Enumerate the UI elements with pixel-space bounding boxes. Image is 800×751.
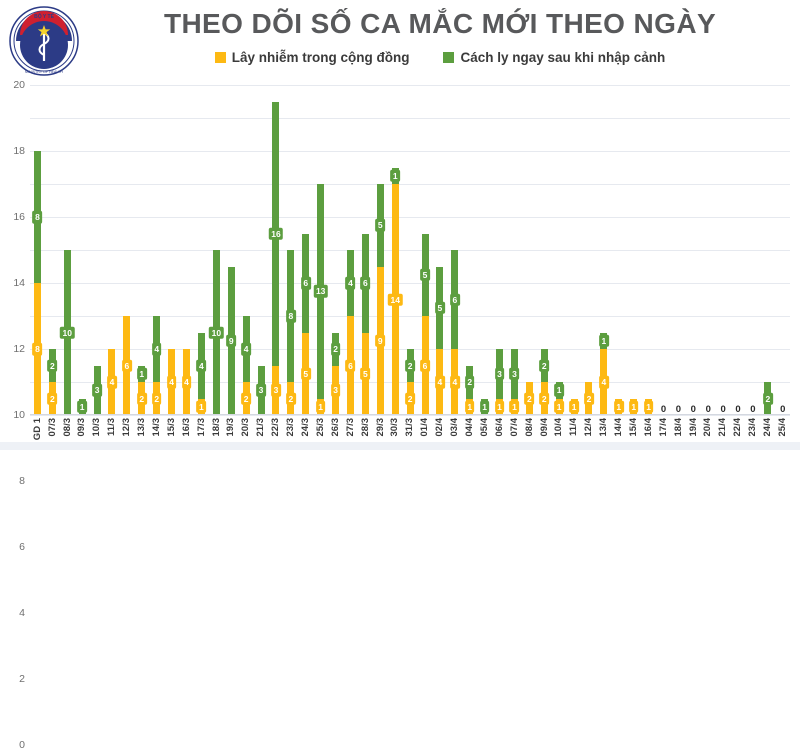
plot-area: 02468101214161820 8822101346124244411094… <box>30 85 790 415</box>
bar-column: 9 <box>224 85 239 415</box>
bar-column: 14 <box>596 85 611 415</box>
bar-column: 12 <box>134 85 149 415</box>
y-axis-tick-label: 2 <box>19 673 25 685</box>
bar-value-label-community: 2 <box>584 392 594 405</box>
bar-stack: 64 <box>451 85 458 415</box>
x-axis-tick-label: 25/4 <box>778 418 788 437</box>
bar-stack: 4 <box>183 85 190 415</box>
bar-value-label-community: 2 <box>152 392 162 405</box>
bar-column: 114 <box>388 85 403 415</box>
bar-segment-quarantined: 5 <box>422 234 429 317</box>
bar-stack: 82 <box>287 85 294 415</box>
bar-segment-community: 1 <box>511 399 518 416</box>
bar-stack: 42 <box>153 85 160 415</box>
bar-column: 31 <box>507 85 522 415</box>
bar-value-label-community: 4 <box>435 376 445 389</box>
bar-segment-community: 1 <box>556 399 563 416</box>
bar-segment-quarantined: 1 <box>600 333 607 350</box>
bar-value-label-quarantined: 3 <box>256 384 266 397</box>
bar-column: 23 <box>328 85 343 415</box>
bar-value-label-quarantined: 1 <box>599 335 609 348</box>
bar-stack: 22 <box>407 85 414 415</box>
bar-series-layer: 8822101346124244411094231638265131234665… <box>30 85 790 415</box>
svg-text:MINISTRY OF HEALTH: MINISTRY OF HEALTH <box>25 70 63 74</box>
bar-value-label-quarantined: 2 <box>465 376 475 389</box>
bar-value-label-quarantined: 1 <box>554 384 564 397</box>
bar-column: 0 <box>775 85 790 415</box>
bar-stack: 1 <box>571 85 578 415</box>
bar-segment-quarantined: 6 <box>451 250 458 349</box>
bar-segment-community: 4 <box>451 349 458 415</box>
x-axis-tick-label: 09/3 <box>77 418 87 437</box>
bar-column: 6 <box>119 85 134 415</box>
bar-segment-quarantined: 2 <box>541 349 548 382</box>
bar-stack: 23 <box>332 85 339 415</box>
bar-value-label-community: 4 <box>167 376 177 389</box>
bar-value-label-quarantined: 2 <box>763 392 773 405</box>
bar-column: 1 <box>611 85 626 415</box>
bar-segment-community: 4 <box>600 349 607 415</box>
legend-swatch-community <box>215 52 226 63</box>
bar-segment-community: 1 <box>198 399 205 416</box>
chart-page: BỘ Y TẾ MINISTRY OF HEALTH THEO DÕI SỐ C… <box>0 0 800 450</box>
bar-segment-quarantined: 5 <box>436 267 443 350</box>
x-axis-tick-label: 02/4 <box>435 418 445 437</box>
x-axis-tick-label: 24/3 <box>301 418 311 437</box>
x-axis-tick-label: 21/3 <box>256 418 266 437</box>
bar-column: 31 <box>492 85 507 415</box>
bar-stack <box>720 85 727 415</box>
bar-column: 59 <box>373 85 388 415</box>
bar-stack: 12 <box>138 85 145 415</box>
bar-value-label-quarantined: 3 <box>510 368 520 381</box>
bar-segment-quarantined: 16 <box>272 102 279 366</box>
x-axis-tick-label: 08/4 <box>525 418 535 437</box>
grid-line: 0 <box>30 415 790 416</box>
bar-value-label-quarantined: 10 <box>209 326 223 339</box>
bar-column: 1 <box>626 85 641 415</box>
bar-stack: 56 <box>422 85 429 415</box>
bar-value-label-quarantined: 4 <box>197 359 207 372</box>
bar-segment-quarantined: 2 <box>764 382 771 415</box>
bar-column: 65 <box>298 85 313 415</box>
bar-stack <box>749 85 756 415</box>
x-axis-tick-label: 14/3 <box>152 418 162 437</box>
bar-column: 4 <box>105 85 120 415</box>
bar-column: 54 <box>432 85 447 415</box>
x-axis-tick-label: 21/4 <box>718 418 728 437</box>
bar-value-label-community: 3 <box>331 384 341 397</box>
bar-stack: 46 <box>347 85 354 415</box>
bar-stack: 1 <box>481 85 488 415</box>
bar-value-label-quarantined: 9 <box>226 335 236 348</box>
bar-stack: 163 <box>272 85 279 415</box>
x-axis-tick-label: GD 1 <box>33 418 43 440</box>
bar-segment-community: 1 <box>496 399 503 416</box>
bar-segment-community: 1 <box>571 399 578 416</box>
bar-segment-community: 2 <box>541 382 548 415</box>
bar-column: 3 <box>254 85 269 415</box>
bar-segment-community: 2 <box>243 382 250 415</box>
bar-value-label-quarantined: 13 <box>313 285 327 298</box>
bar-segment-community: 1 <box>630 399 637 416</box>
bar-column: 0 <box>656 85 671 415</box>
bar-column: 42 <box>239 85 254 415</box>
x-axis-tick-label: 20/4 <box>703 418 713 437</box>
x-axis-tick-label: 10/3 <box>92 418 102 437</box>
bar-segment-quarantined: 1 <box>481 399 488 416</box>
bar-column: 82 <box>283 85 298 415</box>
bar-stack: 2 <box>764 85 771 415</box>
bar-column: 2 <box>522 85 537 415</box>
x-axis-tick-label: 13/3 <box>137 418 147 437</box>
bar-stack: 22 <box>541 85 548 415</box>
bar-column: 42 <box>149 85 164 415</box>
bar-stack: 14 <box>600 85 607 415</box>
x-axis-tick-label: 18/3 <box>212 418 222 437</box>
x-axis-tick-label: 23/3 <box>286 418 296 437</box>
bar-segment-community: 8 <box>34 283 41 415</box>
bar-segment-quarantined: 2 <box>407 349 414 382</box>
bar-value-label-quarantined: 2 <box>331 343 341 356</box>
bar-column: 163 <box>269 85 284 415</box>
y-axis-tick-label: 16 <box>13 211 25 223</box>
bar-column: 1 <box>75 85 90 415</box>
bar-segment-quarantined: 10 <box>213 250 220 415</box>
bar-value-label-community: 1 <box>510 401 520 414</box>
bar-column: 21 <box>462 85 477 415</box>
legend-item-quarantined: Cách ly ngay sau khi nhập cảnh <box>443 50 665 65</box>
bar-value-label-quarantined: 6 <box>301 277 311 290</box>
chart-legend: Lây nhiễm trong cộng đồng Cách ly ngay s… <box>215 50 666 65</box>
bar-stack: 31 <box>496 85 503 415</box>
chart-header: THEO DÕI SỐ CA MẮC MỚI THEO NGÀY Lây nhi… <box>90 2 790 78</box>
x-axis-tick-label: 08/3 <box>63 418 73 437</box>
x-axis-tick-label: 11/3 <box>107 418 117 436</box>
y-axis-tick-label: 18 <box>13 145 25 157</box>
x-axis-tick-label: 26/3 <box>331 418 341 437</box>
y-axis-tick-label: 8 <box>19 475 25 487</box>
bar-value-label-community: 2 <box>539 392 549 405</box>
bar-value-label-quarantined: 16 <box>269 227 283 240</box>
bar-column: 0 <box>731 85 746 415</box>
x-axis-tick-label: 04/4 <box>465 418 475 437</box>
bar-stack: 11 <box>556 85 563 415</box>
bar-stack: 131 <box>317 85 324 415</box>
bar-segment-community: 3 <box>272 366 279 416</box>
bar-column: 0 <box>686 85 701 415</box>
y-axis-tick-label: 12 <box>13 343 25 355</box>
bar-stack: 6 <box>123 85 130 415</box>
bar-segment-quarantined: 1 <box>392 168 399 185</box>
bar-segment-community: 1 <box>645 399 652 416</box>
x-axis-tick-label: 17/4 <box>659 418 669 437</box>
bar-column: 10 <box>60 85 75 415</box>
bar-value-label-quarantined: 2 <box>47 359 57 372</box>
bar-value-label-quarantined: 2 <box>539 359 549 372</box>
bar-segment-quarantined: 1 <box>79 399 86 416</box>
bar-segment-community: 2 <box>138 382 145 415</box>
bar-segment-community: 14 <box>392 184 399 415</box>
x-axis-tick-label: 15/4 <box>629 418 639 437</box>
bar-segment-community: 5 <box>302 333 309 416</box>
bar-value-label-quarantined: 1 <box>77 401 87 414</box>
bar-segment-quarantined: 8 <box>287 250 294 382</box>
bar-value-label-community: 2 <box>286 392 296 405</box>
bar-value-label-community: 4 <box>450 376 460 389</box>
bar-stack: 42 <box>243 85 250 415</box>
bar-column: 64 <box>447 85 462 415</box>
bar-value-label-quarantined: 3 <box>495 368 505 381</box>
bar-column: 0 <box>716 85 731 415</box>
bar-segment-quarantined: 2 <box>332 333 339 366</box>
bar-value-label-community: 3 <box>271 384 281 397</box>
bar-column: 10 <box>209 85 224 415</box>
bar-value-label-quarantined: 4 <box>241 343 251 356</box>
x-axis-tick-label: 16/3 <box>182 418 192 437</box>
x-axis-tick-label: 07/3 <box>48 418 58 437</box>
bar-segment-quarantined: 2 <box>49 349 56 382</box>
bar-column: 4 <box>164 85 179 415</box>
bottom-strip <box>0 442 800 450</box>
bar-value-label-community: 4 <box>107 376 117 389</box>
bar-stack: 88 <box>34 85 41 415</box>
bar-value-label-quarantined: 10 <box>60 326 74 339</box>
bar-stack: 3 <box>258 85 265 415</box>
bar-stack: 65 <box>302 85 309 415</box>
bar-value-label-community: 5 <box>361 368 371 381</box>
bar-value-label-quarantined: 5 <box>420 269 430 282</box>
bar-stack: 41 <box>198 85 205 415</box>
bar-stack <box>660 85 667 415</box>
bar-segment-community: 2 <box>153 382 160 415</box>
bar-value-label-quarantined: 1 <box>137 368 147 381</box>
bar-column: 88 <box>30 85 45 415</box>
bar-stack <box>735 85 742 415</box>
bar-column: 22 <box>537 85 552 415</box>
bar-stack <box>705 85 712 415</box>
bar-value-label-quarantined: 5 <box>375 219 385 232</box>
bar-column: 1 <box>477 85 492 415</box>
x-axis-tick-label: 03/4 <box>450 418 460 437</box>
bar-value-label-quarantined: 8 <box>33 211 43 224</box>
bar-segment-quarantined: 10 <box>64 250 71 415</box>
x-axis-tick-label: 12/3 <box>122 418 132 437</box>
ministry-of-health-logo-icon: BỘ Y TẾ MINISTRY OF HEALTH <box>8 5 80 77</box>
x-axis-tick-label: 29/3 <box>376 418 386 437</box>
bar-column: 22 <box>403 85 418 415</box>
bar-stack <box>779 85 786 415</box>
bar-stack: 2 <box>526 85 533 415</box>
bar-segment-community: 4 <box>108 349 115 415</box>
bar-value-label-quarantined: 6 <box>450 293 460 306</box>
bar-value-label-community: 1 <box>644 401 654 414</box>
bar-segment-community: 1 <box>317 399 324 416</box>
bar-segment-community: 5 <box>362 333 369 416</box>
bar-value-label-community: 1 <box>614 401 624 414</box>
bar-value-label-quarantined: 4 <box>152 343 162 356</box>
bar-segment-quarantined: 6 <box>362 234 369 333</box>
x-axis-tick-label: 19/3 <box>226 418 236 437</box>
bar-value-label-community: 1 <box>465 401 475 414</box>
bar-stack: 1 <box>645 85 652 415</box>
x-axis-tick-label: 19/4 <box>689 418 699 437</box>
bar-stack: 65 <box>362 85 369 415</box>
bar-segment-community: 1 <box>466 399 473 416</box>
bar-column: 65 <box>358 85 373 415</box>
bar-segment-quarantined: 13 <box>317 184 324 399</box>
bar-value-label-community: 1 <box>554 401 564 414</box>
bar-value-label-community: 1 <box>197 401 207 414</box>
x-axis-tick-label: 22/4 <box>733 418 743 437</box>
x-axis-tick-label: 25/3 <box>316 418 326 437</box>
x-axis-tick-label: 06/4 <box>495 418 505 437</box>
bar-value-label-quarantined: 3 <box>92 384 102 397</box>
bar-value-label-quarantined: 5 <box>435 302 445 315</box>
bar-segment-quarantined: 5 <box>377 184 384 267</box>
bar-stack: 54 <box>436 85 443 415</box>
bar-segment-quarantined: 4 <box>243 316 250 382</box>
bar-stack: 4 <box>168 85 175 415</box>
x-axis-tick-label: 13/4 <box>599 418 609 437</box>
bar-value-label-community: 6 <box>346 359 356 372</box>
bar-column: 22 <box>45 85 60 415</box>
x-axis-tick-label: 31/3 <box>405 418 415 437</box>
bar-value-label-quarantined: 1 <box>480 401 490 414</box>
bar-segment-community: 4 <box>168 349 175 415</box>
bar-segment-quarantined: 4 <box>347 250 354 316</box>
bar-segment-community: 4 <box>183 349 190 415</box>
bar-stack: 1 <box>615 85 622 415</box>
bar-segment-quarantined: 3 <box>511 349 518 399</box>
y-axis-tick-label: 4 <box>19 607 25 619</box>
bar-column: 56 <box>418 85 433 415</box>
bar-stack <box>675 85 682 415</box>
bar-column: 2 <box>582 85 597 415</box>
bar-value-label-community: 1 <box>316 401 326 414</box>
bar-stack: 9 <box>228 85 235 415</box>
bar-value-label-community: 4 <box>599 376 609 389</box>
bar-segment-quarantined: 1 <box>138 366 145 383</box>
bar-segment-quarantined: 3 <box>94 366 101 416</box>
bar-column: 11 <box>552 85 567 415</box>
legend-item-community: Lây nhiễm trong cộng đồng <box>215 50 410 65</box>
bar-stack: 1 <box>630 85 637 415</box>
bar-stack: 22 <box>49 85 56 415</box>
bar-segment-quarantined: 3 <box>258 366 265 416</box>
bar-value-label-quarantined: 8 <box>286 310 296 323</box>
bar-segment-community: 6 <box>123 316 130 415</box>
x-axis-tick-label: 15/3 <box>167 418 177 437</box>
x-axis-tick-label: 20/3 <box>241 418 251 437</box>
bar-value-label-community: 6 <box>122 359 132 372</box>
x-axis-tick-label: 16/4 <box>644 418 654 437</box>
bar-segment-quarantined: 1 <box>556 382 563 399</box>
x-axis-tick-label: 01/4 <box>420 418 430 437</box>
page-title: THEO DÕI SỐ CA MẮC MỚI THEO NGÀY <box>164 8 716 40</box>
bar-value-label-community: 2 <box>47 392 57 405</box>
bar-stack: 1 <box>79 85 86 415</box>
x-axis-tick-label: 05/4 <box>480 418 490 437</box>
bar-segment-quarantined: 2 <box>466 366 473 399</box>
bar-value-label-community: 14 <box>388 293 402 306</box>
bar-segment-community: 2 <box>526 382 533 415</box>
y-axis-tick-label: 20 <box>13 79 25 91</box>
bar-value-label-community: 6 <box>420 359 430 372</box>
legend-label-community: Lây nhiễm trong cộng đồng <box>232 50 410 65</box>
bar-segment-community: 4 <box>436 349 443 415</box>
bar-value-label-community: 8 <box>33 343 43 356</box>
y-axis-tick-label: 0 <box>19 739 25 751</box>
bar-value-label-community: 2 <box>137 392 147 405</box>
bar-segment-quarantined: 4 <box>198 333 205 399</box>
bar-segment-community: 2 <box>49 382 56 415</box>
bar-segment-community: 6 <box>422 316 429 415</box>
bar-value-label-community: 2 <box>524 392 534 405</box>
bar-column: 4 <box>179 85 194 415</box>
x-axis-tick-label: 12/4 <box>584 418 594 437</box>
bar-stack: 4 <box>108 85 115 415</box>
bar-stack: 59 <box>377 85 384 415</box>
bar-value-label-quarantined: 6 <box>361 277 371 290</box>
x-axis-tick-label: 10/4 <box>554 418 564 437</box>
bar-value-label-community: 9 <box>375 335 385 348</box>
x-axis-tick-label: 09/4 <box>540 418 550 437</box>
bar-stack: 21 <box>466 85 473 415</box>
x-axis-tick-label: 11/4 <box>569 418 579 436</box>
bar-stack: 3 <box>94 85 101 415</box>
legend-label-quarantined: Cách ly ngay sau khi nhập cảnh <box>460 50 665 65</box>
bar-value-label-community: 1 <box>569 401 579 414</box>
x-axis-tick-label: 22/3 <box>271 418 281 437</box>
bar-segment-community: 1 <box>615 399 622 416</box>
bar-segment-community: 2 <box>585 382 592 415</box>
bar-column: 0 <box>746 85 761 415</box>
x-axis-tick-label: 28/3 <box>361 418 371 437</box>
y-axis-tick-label: 10 <box>13 409 25 421</box>
x-axis-tick-label: 18/4 <box>674 418 684 437</box>
bar-column: 131 <box>313 85 328 415</box>
bar-stack: 10 <box>64 85 71 415</box>
bar-column: 46 <box>343 85 358 415</box>
bar-column: 3 <box>90 85 105 415</box>
bar-stack: 31 <box>511 85 518 415</box>
bar-stack: 2 <box>585 85 592 415</box>
bar-value-label-community: 2 <box>405 392 415 405</box>
bar-segment-quarantined: 8 <box>34 151 41 283</box>
bar-segment-community: 6 <box>347 316 354 415</box>
bar-segment-community: 2 <box>407 382 414 415</box>
bar-segment-quarantined: 3 <box>496 349 503 399</box>
bar-column: 41 <box>194 85 209 415</box>
x-axis-tick-label: 14/4 <box>614 418 624 437</box>
svg-text:BỘ Y TẾ: BỘ Y TẾ <box>34 12 54 20</box>
x-axis-tick-label: 07/4 <box>510 418 520 437</box>
bar-column: 0 <box>701 85 716 415</box>
legend-swatch-quarantined <box>443 52 454 63</box>
x-axis-tick-label: 24/4 <box>763 418 773 437</box>
bar-column: 1 <box>641 85 656 415</box>
bar-stack <box>690 85 697 415</box>
x-axis-tick-label: 27/3 <box>346 418 356 437</box>
bar-value-label-quarantined: 2 <box>405 359 415 372</box>
bar-stack: 114 <box>392 85 399 415</box>
bar-segment-quarantined: 6 <box>302 234 309 333</box>
y-axis-tick-label: 6 <box>19 541 25 553</box>
bar-segment-quarantined: 9 <box>228 267 235 416</box>
bar-value-label-community: 2 <box>241 392 251 405</box>
bar-value-label-community: 5 <box>301 368 311 381</box>
